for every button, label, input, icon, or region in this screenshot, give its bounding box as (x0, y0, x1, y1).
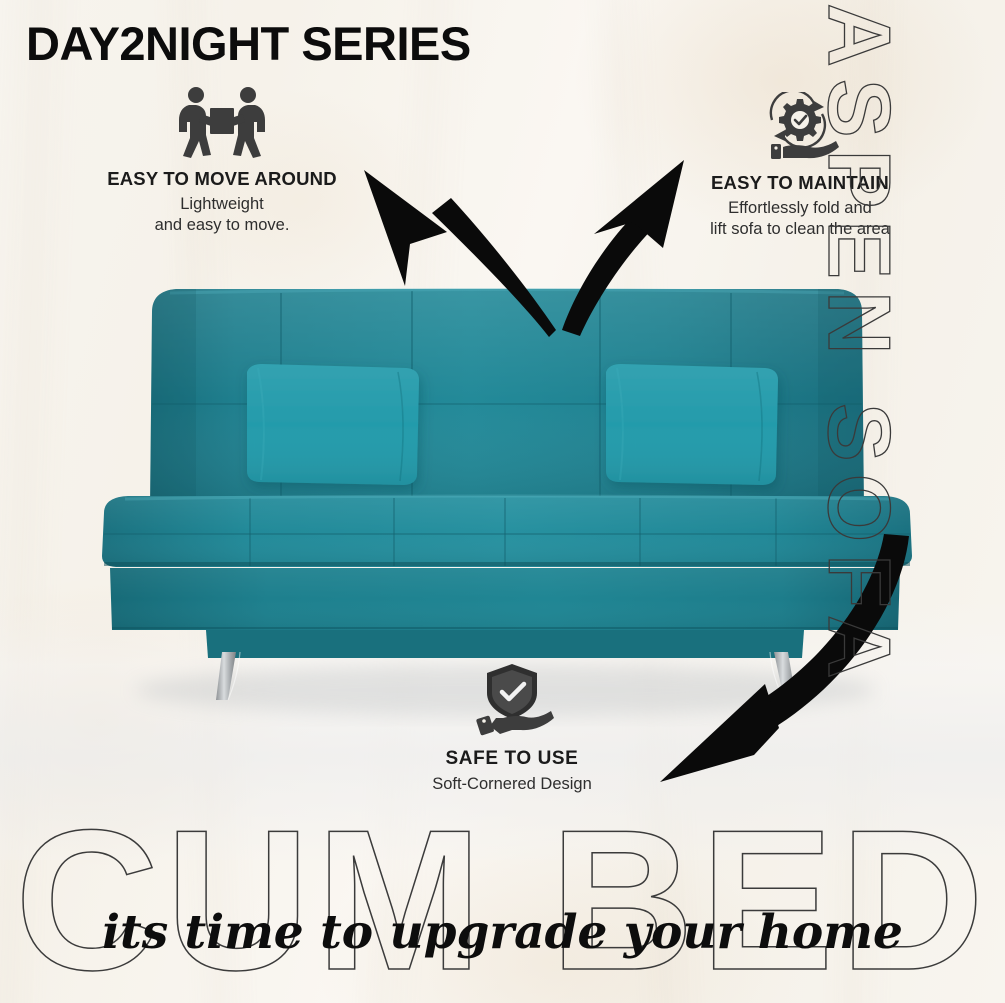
feature-description-line2: lift sofa to clean the area (710, 220, 890, 238)
feature-description: Lightweight and easy to move. (92, 194, 352, 235)
sofa-base-skirt (110, 568, 900, 658)
feature-easy-to-move-around: EASY TO MOVE AROUND Lightweight and easy… (92, 86, 352, 235)
feature-description: Soft-Cornered Design (392, 774, 632, 795)
feature-description-line1: Soft-Cornered Design (432, 775, 592, 793)
feature-heading: EASY TO MOVE AROUND (92, 168, 352, 190)
feature-heading: EASY TO MAINTAIN (690, 172, 910, 194)
feature-description-line1: Effortlessly fold and (728, 199, 872, 217)
feature-easy-to-maintain: EASY TO MAINTAIN Effortlessly fold and l… (690, 92, 910, 239)
throw-pillow-left (247, 364, 419, 485)
feature-heading: SAFE TO USE (392, 748, 632, 770)
feature-description: Effortlessly fold and lift sofa to clean… (690, 198, 910, 239)
feature-safe-to-use: SAFE TO USE Soft-Cornered Design (392, 660, 632, 795)
gear-in-hand-icon (760, 92, 840, 164)
tagline: its time to upgrade your home (0, 905, 1005, 960)
throw-pillow-right (606, 364, 778, 485)
feature-description-line2: and easy to move. (155, 216, 290, 234)
shield-in-hand-icon (468, 660, 556, 740)
product-infographic-poster: DAY2NIGHT SERIES EASY TO MOVE AROUND Lig… (0, 0, 1005, 1003)
page-title: DAY2NIGHT SERIES (26, 16, 471, 71)
sofa-seat-cushion (102, 496, 912, 567)
two-people-carrying-box-icon (176, 86, 268, 160)
feature-description-line1: Lightweight (180, 195, 263, 213)
